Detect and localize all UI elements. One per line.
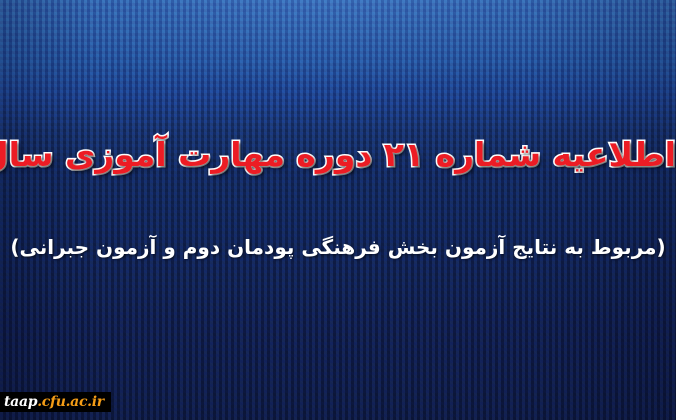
website-url-name: taap <box>4 395 37 409</box>
website-url-badge[interactable]: taap.cfu.ac.ir <box>0 392 111 412</box>
announcement-banner: اطلاعیه شماره ۲۱ دوره مهارت آموزی سال ۹۹… <box>0 0 676 420</box>
banner-content: اطلاعیه شماره ۲۱ دوره مهارت آموزی سال ۹۹… <box>0 0 676 420</box>
announcement-subtitle: (مربوط به نتایج آزمون بخش فرهنگی پودمان … <box>0 234 676 261</box>
website-url-domain: .cfu.ac.ir <box>37 395 104 409</box>
announcement-headline: اطلاعیه شماره ۲۱ دوره مهارت آموزی سال ۹۹ <box>0 134 676 175</box>
